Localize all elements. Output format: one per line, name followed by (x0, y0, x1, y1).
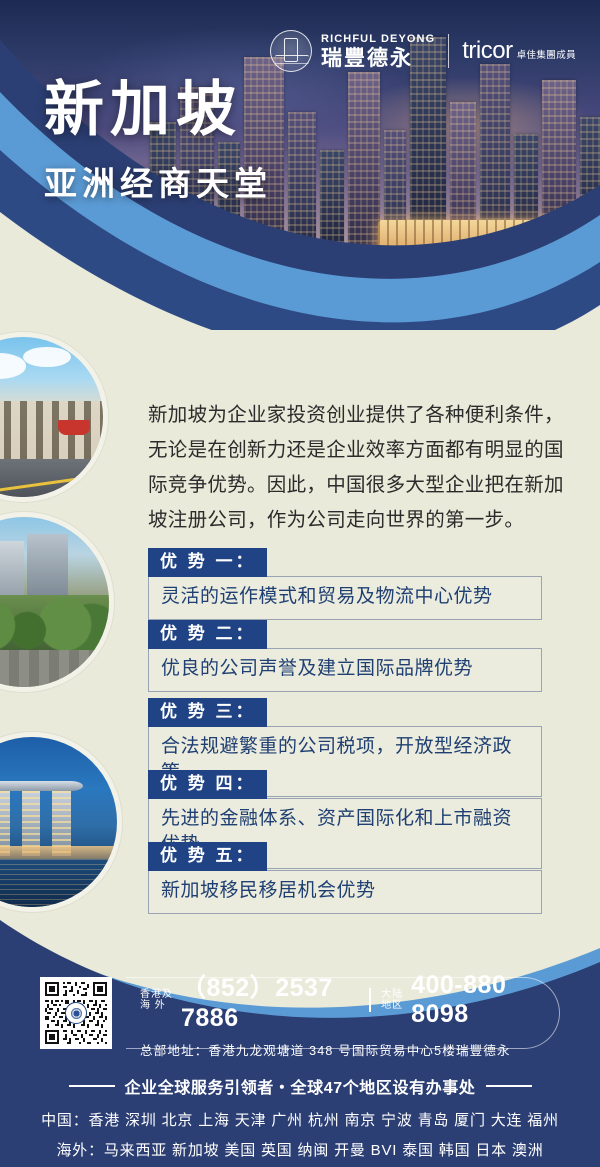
intro-paragraph: 新加坡为企业家投资创业提供了各种便利条件，无论是在创新力还是企业效率方面都有明显… (148, 398, 568, 538)
hk-phone-number[interactable]: （852）2537 7886 (181, 968, 359, 1033)
advantage-5-heading: 优 势 五： (148, 842, 267, 871)
hk-phone-label-line2: 海 外 (140, 1000, 173, 1011)
photo-shophouse-image (0, 337, 103, 497)
advantage-4-heading: 优 势 四： (148, 770, 267, 799)
footer-tagline-row: 企业全球服务引领者・全球47个地区设有办事处 (0, 1074, 600, 1098)
page-subtitle: 亚洲经商天堂 (44, 157, 272, 205)
phone-divider (369, 988, 371, 1012)
qr-code-icon[interactable] (40, 977, 112, 1049)
photo-mbs-image (0, 737, 117, 907)
logo-divider (448, 34, 449, 68)
brand-logo[interactable]: RICHFUL DEYONG 瑞豐德永 tricor 卓佳集團成員 (270, 30, 576, 72)
advantage-5-text: 新加坡移民移居机会优势 (148, 870, 542, 915)
hk-phone-label: 香港及 海 外 (140, 989, 173, 1011)
tricor-wordmark: tricor (462, 37, 512, 65)
poster-canvas: 新加坡 亚洲经商天堂 RICHFUL DEYONG 瑞豐德永 tricor 卓佳… (0, 0, 600, 1167)
tricor-member-label: 卓佳集團成員 (517, 47, 576, 65)
contact-bar: 香港及 海 外 （852）2537 7886 大陆 地区 400-880 809… (40, 975, 560, 1051)
company-seal-icon (270, 30, 312, 72)
photo-greenery-image (0, 517, 109, 687)
footer-section: 企业全球服务引领者・全球47个地区设有办事处 中国：香港 深圳 北京 上海 天津… (0, 1063, 600, 1167)
photo-city-greenery (0, 512, 114, 692)
advantage-2-heading: 优 势 二： (148, 620, 267, 649)
advantage-2-text: 优良的公司声誉及建立国际品牌优势 (148, 648, 542, 693)
qr-center-seal-icon (65, 1002, 87, 1024)
cn-phone-label: 大陆 地区 (381, 989, 403, 1011)
advantage-1-heading: 优 势 一： (148, 548, 267, 577)
photo-marina-bay-sands (0, 732, 122, 912)
title-block: 新加坡 亚洲经商天堂 (44, 78, 272, 205)
footer-tagline: 企业全球服务引领者・全球47个地区设有办事处 (125, 1074, 476, 1098)
advantage-3-heading: 优 势 三： (148, 698, 267, 727)
brand-name-block: RICHFUL DEYONG 瑞豐德永 (321, 34, 435, 69)
cn-phone-label-line2: 地区 (381, 1000, 403, 1011)
advantage-item-1: 优 势 一： 灵活的运作模式和贸易及物流中心优势 (148, 548, 542, 620)
head-office-address: 总部地址：香港九龙观塘道 348 号国际贸易中心5楼瑞豐德永 (140, 1040, 543, 1059)
brand-name-en: RICHFUL DEYONG (321, 34, 435, 45)
footer-rule-left (69, 1085, 115, 1087)
cn-phone-number[interactable]: 400-880 8098 (411, 971, 543, 1029)
brand-name-cn: 瑞豐德永 (321, 48, 435, 69)
cn-phone-label-line1: 大陆 (381, 989, 403, 1000)
phone-line: 香港及 海 外 （852）2537 7886 大陆 地区 400-880 809… (140, 968, 543, 1033)
footer-overseas-offices: 海外：马来西亚 新加坡 美国 英国 纳闽 开曼 BVI 泰国 韩国 日本 澳洲 (0, 1139, 600, 1160)
advantage-item-5: 优 势 五： 新加坡移民移居机会优势 (148, 842, 542, 914)
advantage-1-text: 灵活的运作模式和贸易及物流中心优势 (148, 576, 542, 621)
footer-rule-right (486, 1085, 532, 1087)
tricor-logo: tricor 卓佳集團成員 (462, 37, 576, 65)
page-title: 新加坡 (44, 78, 272, 141)
photo-shophouse-street (0, 332, 108, 502)
hk-phone-label-line1: 香港及 (140, 989, 173, 1000)
contact-details-card: 香港及 海 外 （852）2537 7886 大陆 地区 400-880 809… (126, 977, 560, 1049)
advantage-item-2: 优 势 二： 优良的公司声誉及建立国际品牌优势 (148, 620, 542, 692)
footer-china-offices: 中国：香港 深圳 北京 上海 天津 广州 杭州 南京 宁波 青岛 厦门 大连 福… (0, 1109, 600, 1130)
